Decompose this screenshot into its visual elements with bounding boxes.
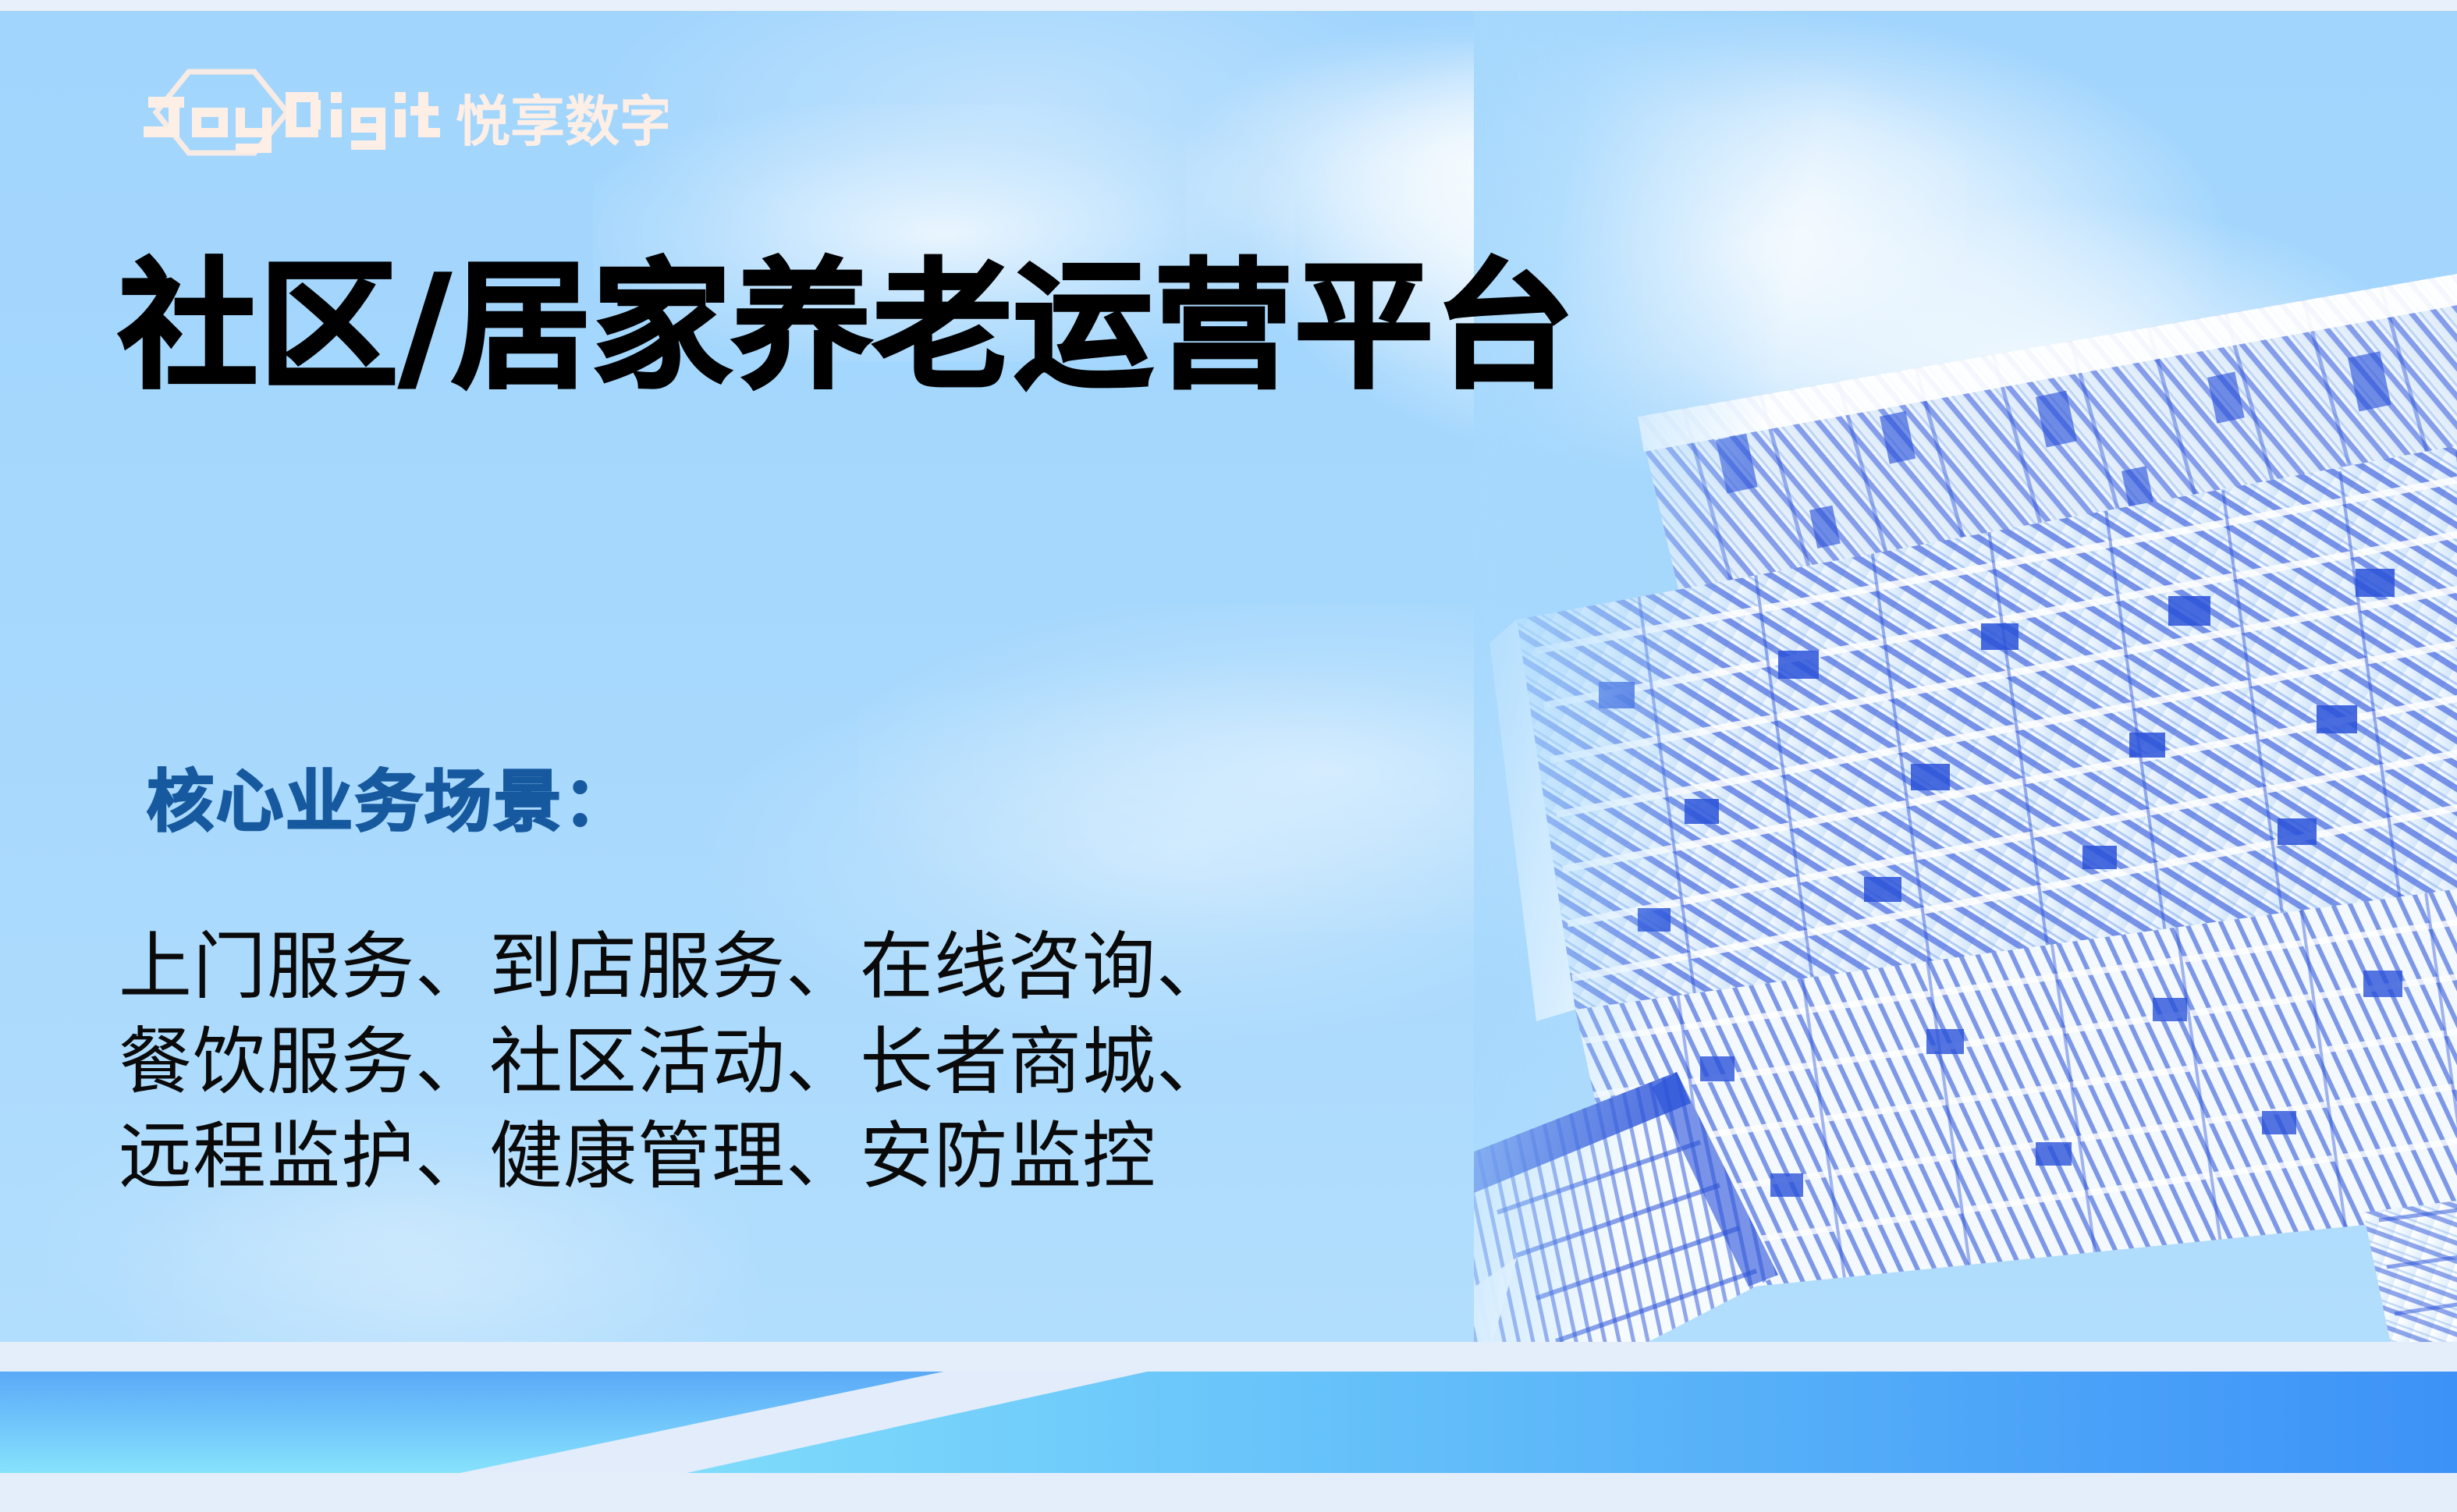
- tower-main-body: [1489, 440, 2457, 1033]
- bottom-decorative-band: [0, 1342, 2457, 1512]
- scenario-line: 远程监护、健康管理、安防监控: [119, 1118, 1230, 1196]
- skyscraper-illustration: [1474, 183, 2457, 1373]
- tower-lower-section: [1575, 885, 2457, 1322]
- tower-upper-slab: [1638, 268, 2457, 721]
- skyscraper-photo: [1474, 11, 2457, 1373]
- page-title: 社区/居家养老运营平台: [119, 257, 1575, 396]
- scenario-line: 上门服务、到店服务、在线咨询、: [119, 928, 1230, 1006]
- logo-artwork: 悦享数字: [137, 66, 668, 159]
- top-edge-strip: [0, 0, 2457, 11]
- logo-wordmark: [144, 92, 440, 153]
- brand-logo: 悦享数字: [137, 66, 668, 159]
- slide-root: 悦享数字 社区/居家养老运营平台 核心业务场景： 上门服务、到店服务、在线咨询、…: [0, 0, 2457, 1512]
- scenario-list: 上门服务、到店服务、在线咨询、 餐饮服务、社区活动、长者商城、 远程监护、健康管…: [119, 928, 1230, 1196]
- band-shapes: [0, 1342, 2457, 1512]
- logo-brand-cn: 悦享数字: [456, 90, 668, 154]
- scenario-line: 餐饮服务、社区活动、长者商城、: [119, 1024, 1230, 1102]
- section-subtitle: 核心业务场景：: [147, 768, 633, 836]
- podium-structure: [1474, 1072, 1778, 1373]
